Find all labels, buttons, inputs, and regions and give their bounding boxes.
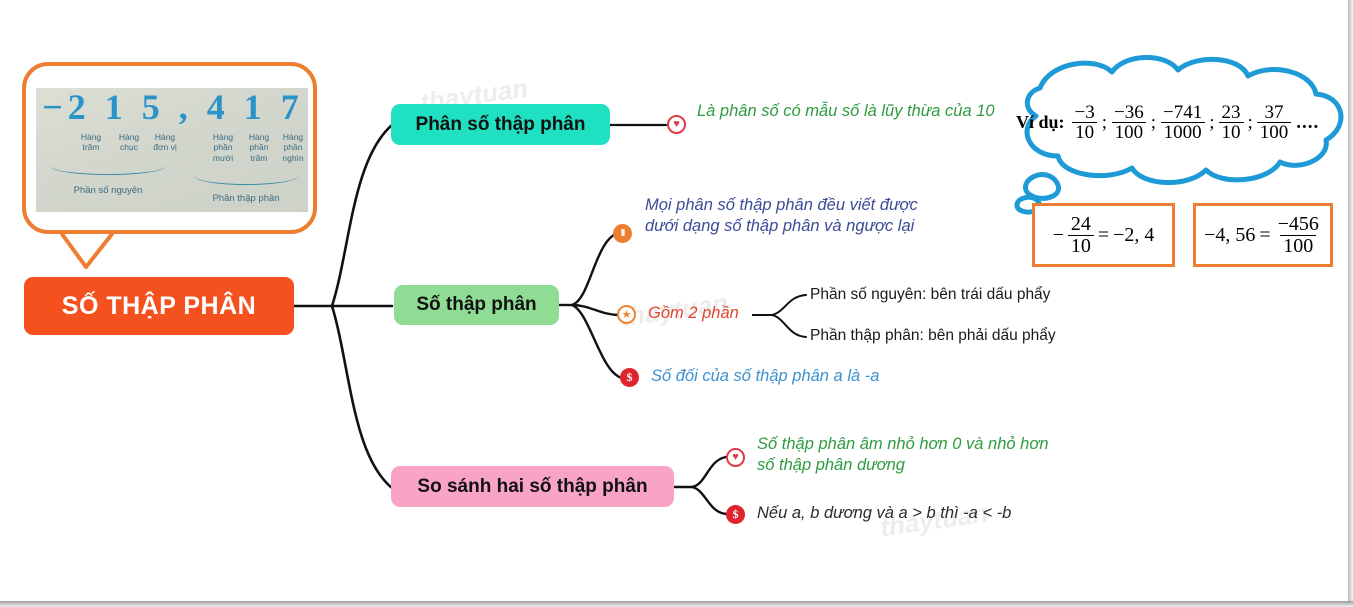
branch-node-so-thap-phan[interactable]: Số thập phân xyxy=(394,285,559,325)
fraction-1: −3 10 xyxy=(1072,103,1098,143)
heart-icon xyxy=(726,448,745,467)
leaf-so-doi: Số đối của số thập phân a là -a xyxy=(651,366,981,387)
cloud-content: Ví dụ: −3 10 ; −36 100 ; −741 1000 ; 23 … xyxy=(1016,103,1319,143)
formula1-sign: − xyxy=(1053,224,1064,247)
fraction-5: 37 100 xyxy=(1257,103,1292,143)
branch-label: Phân số thập phân xyxy=(416,114,586,136)
column-label-thousandths: Hàngphầnnghìn xyxy=(274,132,308,163)
branch-node-phan-so-thap-phan[interactable]: Phân số thập phân xyxy=(391,104,610,145)
column-label-ones: Hàngđơn vị xyxy=(146,132,184,153)
brace-decimal-part xyxy=(194,176,298,185)
center-node-label: SỐ THẬP PHÂN xyxy=(62,292,256,321)
leaf-gom-2-phan: Gồm 2 phần xyxy=(648,303,758,324)
subleaf-phan-thap-phan: Phần thập phân: bên phải dấu phẩy xyxy=(810,327,1056,345)
formula-box-2: −4, 56 = −456 100 xyxy=(1193,203,1333,267)
slide-frame-bottom xyxy=(0,601,1353,607)
place-value-photo: −2 1 5 , 4 1 7 Hàngtrăm Hàngchục Hàngđơn… xyxy=(36,88,308,212)
leaf-phan-so-dinh-nghia: Là phân số có mẫu số là lũy thừa của 10 xyxy=(697,101,997,122)
leaf-neu-a-b-duong: Nếu a, b dương và a > b thì -a < -b xyxy=(757,503,1087,524)
separator: ; xyxy=(1151,112,1156,134)
column-label-tenths: Hàngphầnmười xyxy=(204,132,242,163)
formula2-equals: = xyxy=(1259,224,1270,247)
formula1-rhs: −2, 4 xyxy=(1113,224,1154,247)
dollar-icon: $ xyxy=(726,505,745,524)
column-label-hundreds: Hàngtrăm xyxy=(72,132,110,153)
photo-part-right: Phần thập phân xyxy=(191,193,301,204)
branch-node-so-sanh[interactable]: So sánh hai số thập phân xyxy=(391,466,674,507)
photo-part-left: Phần số nguyên xyxy=(53,185,163,196)
separator: ; xyxy=(1248,112,1253,134)
heart-icon xyxy=(667,115,686,134)
column-label-hundredths: Hàngphầntrăm xyxy=(240,132,278,163)
formula2-lhs: −4, 56 xyxy=(1204,224,1255,247)
photo-number: −2 1 5 , 4 1 7 xyxy=(42,88,304,128)
brace-integer-part xyxy=(50,166,166,175)
branch-label: So sánh hai số thập phân xyxy=(417,476,647,498)
subleaf-phan-so-nguyen: Phần số nguyên: bên trái dấu phẩy xyxy=(810,286,1050,304)
bell-icon: ★ xyxy=(617,305,636,324)
cloud-ellipsis: .... xyxy=(1296,112,1319,134)
formula2-fraction: −456 100 xyxy=(1275,214,1322,256)
fraction-2: −36 100 xyxy=(1111,103,1147,143)
fraction-4: 23 10 xyxy=(1219,103,1244,143)
pause-icon: II xyxy=(613,224,632,243)
branch-label: Số thập phân xyxy=(416,294,536,316)
leaf-so-thap-phan-am: Số thập phân âm nhỏ hơn 0 và nhỏ hơn số … xyxy=(757,434,1067,476)
formula1-equals: = xyxy=(1098,224,1109,247)
thought-cloud: Ví dụ: −3 10 ; −36 100 ; −741 1000 ; 23 … xyxy=(998,56,1353,201)
dollar-icon: $ xyxy=(620,368,639,387)
cloud-label: Ví dụ: xyxy=(1016,112,1065,133)
slide-frame-right xyxy=(1348,0,1353,607)
separator: ; xyxy=(1102,112,1107,134)
column-label-tens: Hàngchục xyxy=(110,132,148,153)
formula1-fraction: 24 10 xyxy=(1068,214,1094,256)
mindmap-slide: thaytuan thaytuan thaytuan xyxy=(0,0,1353,607)
separator: ; xyxy=(1209,112,1214,134)
center-node[interactable]: SỐ THẬP PHÂN xyxy=(24,277,294,335)
leaf-moi-phan-so: Mọi phân số thập phân đều viết được dưới… xyxy=(645,195,935,237)
formula-box-1: − 24 10 = −2, 4 xyxy=(1032,203,1175,267)
callout-bubble: −2 1 5 , 4 1 7 Hàngtrăm Hàngchục Hàngđơn… xyxy=(22,62,317,234)
fraction-3: −741 1000 xyxy=(1160,103,1205,143)
